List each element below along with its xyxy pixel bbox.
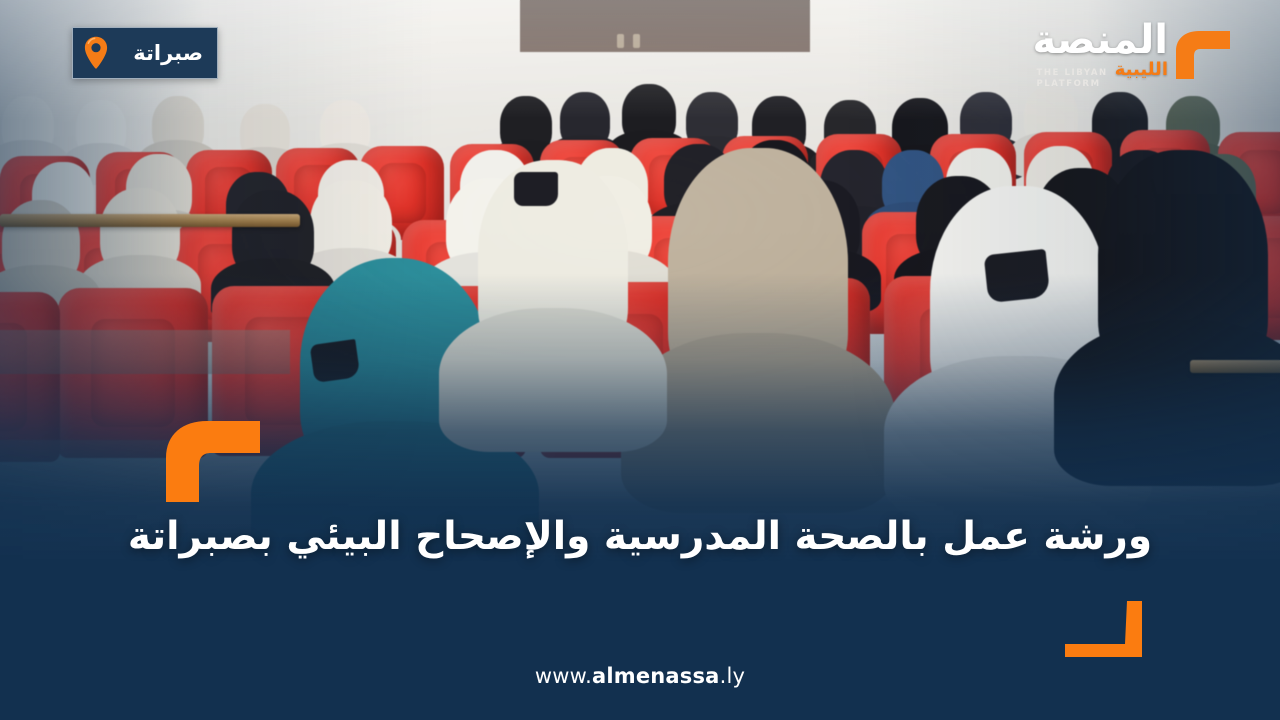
url-suffix: .ly xyxy=(720,664,746,688)
logo-arabic-primary: المنصة xyxy=(1032,20,1168,60)
location-badge[interactable]: صبراتة xyxy=(72,27,218,79)
almenassa-hook-mark-icon xyxy=(1174,29,1232,81)
orange-corner-hook-icon xyxy=(1063,601,1145,659)
url-brand: almenassa xyxy=(592,664,720,688)
news-card: صبراتة المنصة الليبية THE LIBYAN PLATFOR… xyxy=(0,0,1280,720)
url-prefix: www. xyxy=(535,664,592,688)
site-logo[interactable]: المنصة الليبية THE LIBYAN PLATFORM xyxy=(1032,20,1232,89)
website-url[interactable]: www.almenassa.ly xyxy=(0,666,1280,687)
logo-english-line2: PLATFORM xyxy=(1036,79,1100,89)
map-pin-icon xyxy=(83,36,109,70)
orange-hook-shape-icon xyxy=(163,418,263,504)
headline-title: ورشة عمل بالصحة المدرسية والإصحاح البيئي… xyxy=(0,512,1280,563)
logo-wordmark: المنصة الليبية THE LIBYAN PLATFORM xyxy=(1032,20,1168,89)
logo-arabic-secondary: الليبية xyxy=(1115,61,1168,79)
logo-subline: الليبية THE LIBYAN PLATFORM xyxy=(1036,61,1168,89)
location-label: صبراتة xyxy=(117,43,203,64)
logo-english-line1: THE LIBYAN xyxy=(1036,68,1107,78)
logo-english-text: THE LIBYAN PLATFORM xyxy=(1036,68,1107,89)
